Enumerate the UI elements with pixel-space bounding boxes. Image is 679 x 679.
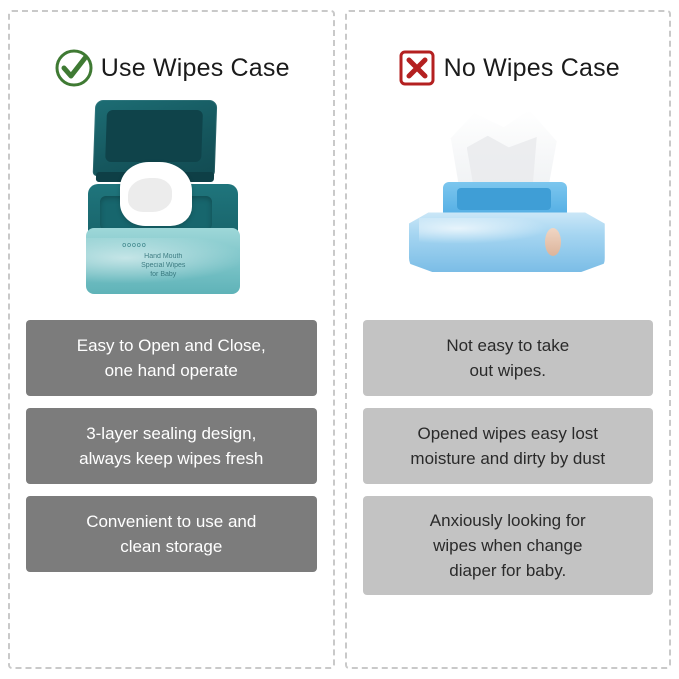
- feature-text: Convenient to use andclean storage: [86, 509, 256, 559]
- check-icon: [53, 47, 95, 89]
- feature-text: Easy to Open and Close,one hand operate: [77, 333, 266, 383]
- case-label-line2: Special Wipes: [108, 261, 218, 270]
- panel-use-wipes-case: Use Wipes Case ooooo Hand Mouth Special …: [8, 10, 335, 669]
- feature-text: Anxiously looking forwipes when changedi…: [430, 508, 586, 583]
- feature-item: Anxiously looking forwipes when changedi…: [363, 496, 654, 595]
- page-title-left: Use Wipes Case: [101, 54, 290, 83]
- case-label-line3: for Baby: [108, 270, 218, 279]
- feature-item: Opened wipes easy lostmoisture and dirty…: [363, 408, 654, 484]
- product-image-teal-case: ooooo Hand Mouth Special Wipes for Baby: [10, 94, 333, 314]
- page-title-right: No Wipes Case: [444, 54, 620, 83]
- feature-text: Opened wipes easy lostmoisture and dirty…: [410, 421, 605, 471]
- panel-no-wipes-case: No Wipes Case Not easy to takeout wipes.…: [345, 10, 672, 669]
- case-brand-mark: ooooo: [122, 242, 146, 249]
- pack-opening: [457, 188, 551, 210]
- feature-list-left: Easy to Open and Close,one hand operate …: [10, 320, 333, 582]
- panel-header-left: Use Wipes Case: [53, 46, 290, 90]
- case-lid-inner: [105, 110, 203, 162]
- feature-text: Not easy to takeout wipes.: [446, 333, 569, 383]
- cross-icon: [396, 47, 438, 89]
- comparison-board: Use Wipes Case ooooo Hand Mouth Special …: [0, 0, 679, 679]
- feature-item: 3-layer sealing design,always keep wipes…: [26, 408, 317, 484]
- product-image-blue-pack: [347, 94, 670, 314]
- pack-sticker: [545, 228, 561, 256]
- pack-body: [409, 210, 605, 272]
- feature-text: 3-layer sealing design,always keep wipes…: [79, 421, 263, 471]
- case-lower-body: ooooo Hand Mouth Special Wipes for Baby: [86, 228, 240, 294]
- case-label-line1: Hand Mouth: [108, 252, 218, 261]
- wipe-sheet: [120, 162, 192, 226]
- feature-item: Not easy to takeout wipes.: [363, 320, 654, 396]
- feature-item: Easy to Open and Close,one hand operate: [26, 320, 317, 396]
- panel-header-right: No Wipes Case: [396, 46, 620, 90]
- feature-list-right: Not easy to takeout wipes. Opened wipes …: [347, 320, 670, 605]
- feature-item: Convenient to use andclean storage: [26, 496, 317, 572]
